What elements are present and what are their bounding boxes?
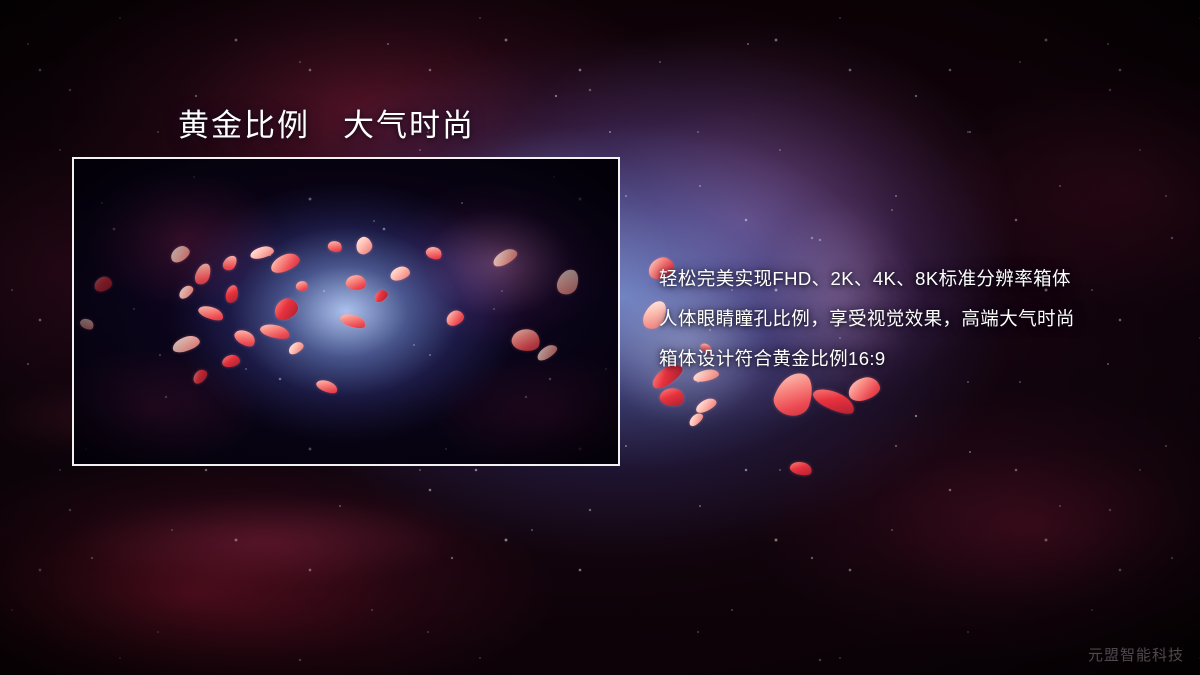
body-line-1: 轻松完美实现FHD、2K、4K、8K标准分辨率箱体	[659, 259, 1179, 299]
body-line-3: 箱体设计符合黄金比例16:9	[659, 339, 1179, 379]
presentation-slide: 黄金比例 大气时尚 轻松完美实现FHD、2K、4K、8K标准分辨率箱体 人体眼睛…	[0, 0, 1200, 675]
preview-image-frame[interactable]	[72, 157, 620, 466]
body-line-2: 人体眼睛瞳孔比例，享受视觉效果，高端大气时尚	[659, 299, 1179, 339]
body-copy: 轻松完美实现FHD、2K、4K、8K标准分辨率箱体 人体眼睛瞳孔比例，享受视觉效…	[659, 259, 1179, 379]
watermark: 元盟智能科技	[1088, 644, 1184, 665]
preview-vignette	[74, 159, 618, 464]
page-title: 黄金比例 大气时尚	[178, 100, 475, 145]
